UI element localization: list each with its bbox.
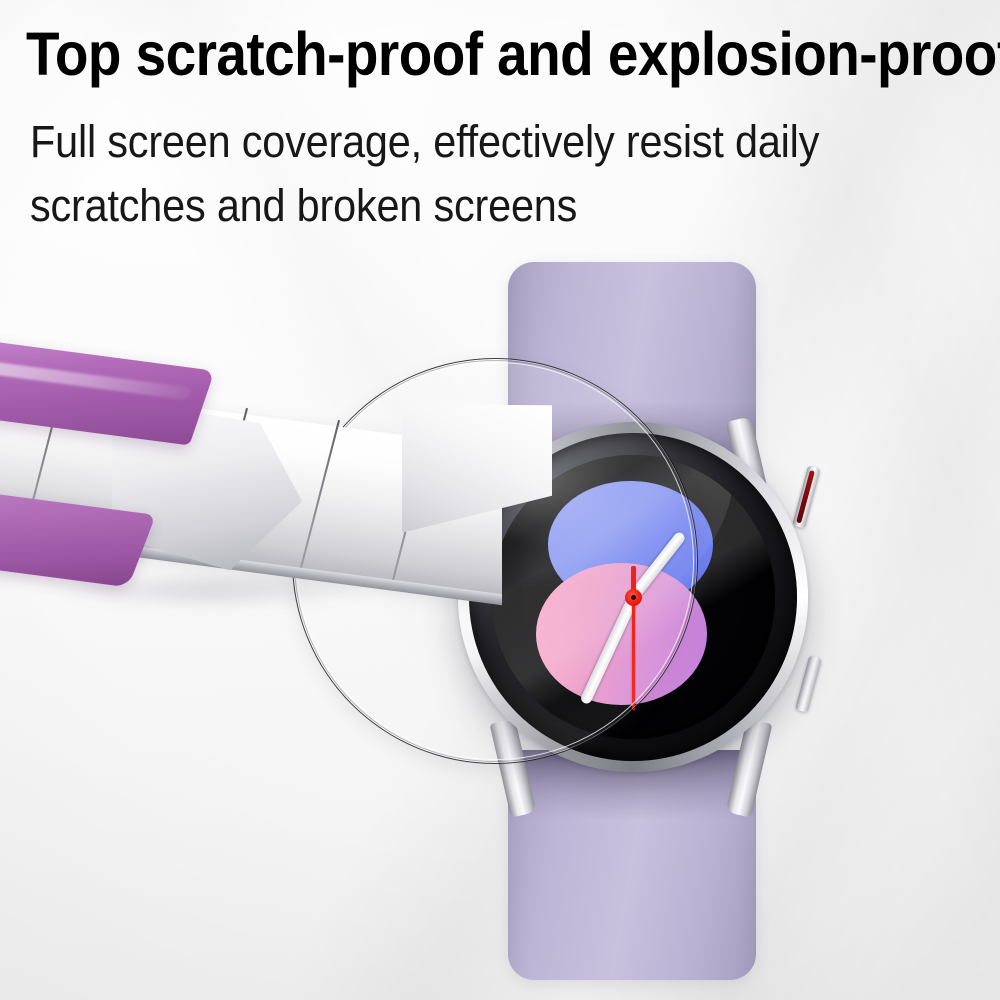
dial-center-cap	[625, 589, 642, 606]
subline-line-2: scratches and broken screens	[30, 174, 895, 238]
headline: Top scratch-proof and explosion-proof	[26, 24, 881, 85]
watch-side-button-bottom[interactable]	[795, 655, 822, 712]
blade-segment-line	[298, 420, 340, 576]
utility-knife	[0, 352, 542, 652]
watch-side-button-top[interactable]	[792, 465, 821, 528]
product-banner: Top scratch-proof and explosion-proof Fu…	[0, 0, 1000, 1000]
second-hand	[632, 597, 635, 711]
watch-strap-bottom	[508, 750, 756, 980]
subline: Full screen coverage, effectively resist…	[30, 110, 895, 238]
subline-line-1: Full screen coverage, effectively resist…	[30, 110, 895, 174]
